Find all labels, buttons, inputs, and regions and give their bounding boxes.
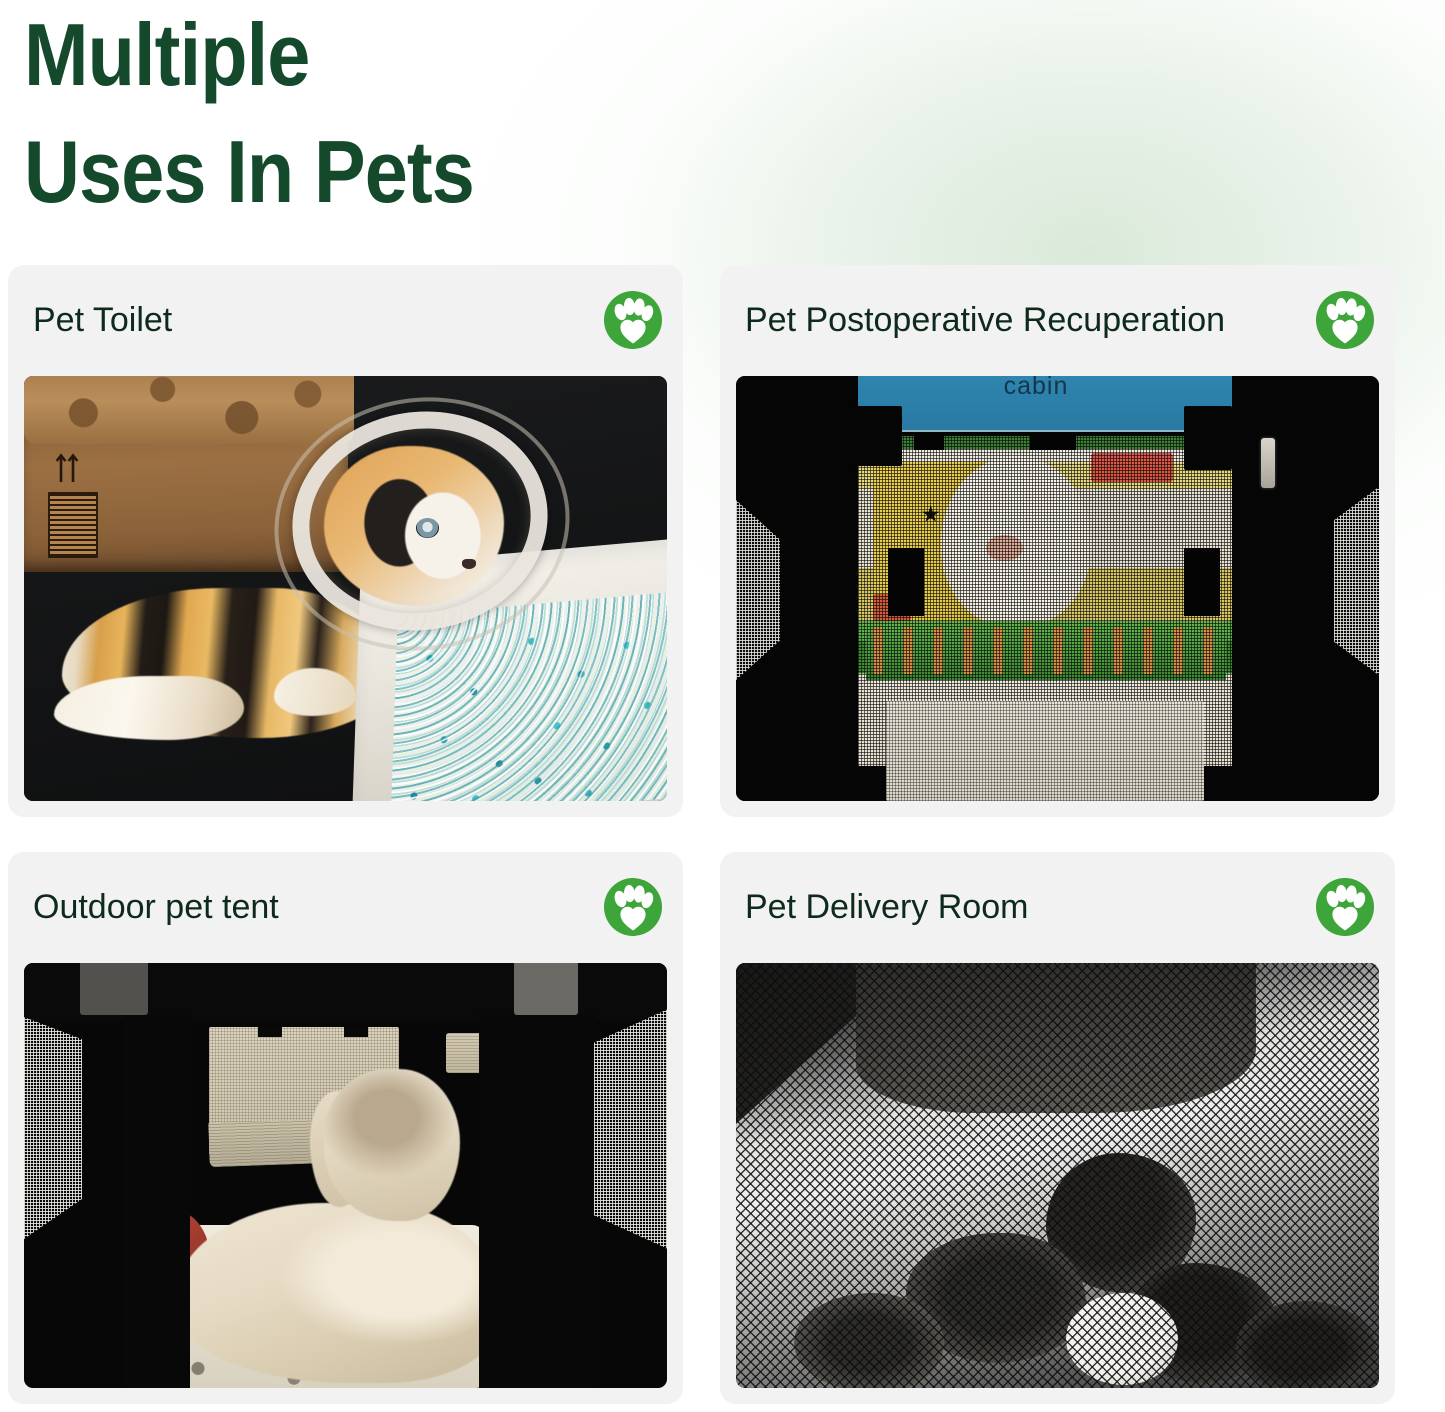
photo-pet-delivery-room	[736, 963, 1379, 1388]
use-case-card-pet-postoperative-recuperation[interactable]: Pet Postoperative Recuperation cabin	[720, 265, 1395, 817]
photo-pet-toilet	[24, 376, 667, 801]
paw-print-icon	[603, 290, 663, 350]
use-case-card-outdoor-pet-tent[interactable]: Outdoor pet tent	[8, 852, 683, 1404]
use-case-card-pet-delivery-room[interactable]: Pet Delivery Room	[720, 852, 1395, 1404]
use-case-card-pet-toilet[interactable]: Pet Toilet	[8, 265, 683, 817]
paw-print-icon	[1315, 877, 1375, 937]
paw-print-icon	[603, 877, 663, 937]
box-arrows-icon	[54, 448, 82, 484]
card-header: Pet Postoperative Recuperation	[720, 265, 1395, 375]
card-title-pet-toilet: Pet Toilet	[33, 303, 603, 337]
card-title-outdoor-pet-tent: Outdoor pet tent	[33, 890, 603, 924]
photo-pet-postoperative-recuperation: cabin	[736, 376, 1379, 801]
page-title: Multiple Uses In Pets	[24, 0, 693, 230]
card-header: Pet Toilet	[8, 265, 683, 375]
card-header: Pet Delivery Room	[720, 852, 1395, 962]
card-title-pet-postoperative-recuperation: Pet Postoperative Recuperation	[745, 303, 1315, 337]
card-title-pet-delivery-room: Pet Delivery Room	[745, 890, 1315, 924]
photo-outdoor-pet-tent	[24, 963, 667, 1388]
use-case-card-grid: Pet Toilet	[8, 265, 1437, 1404]
card-header: Outdoor pet tent	[8, 852, 683, 962]
multiple-uses-in-pets-infographic: Multiple Uses In Pets Pet Toilet	[0, 0, 1445, 1412]
paw-print-icon	[1315, 290, 1375, 350]
